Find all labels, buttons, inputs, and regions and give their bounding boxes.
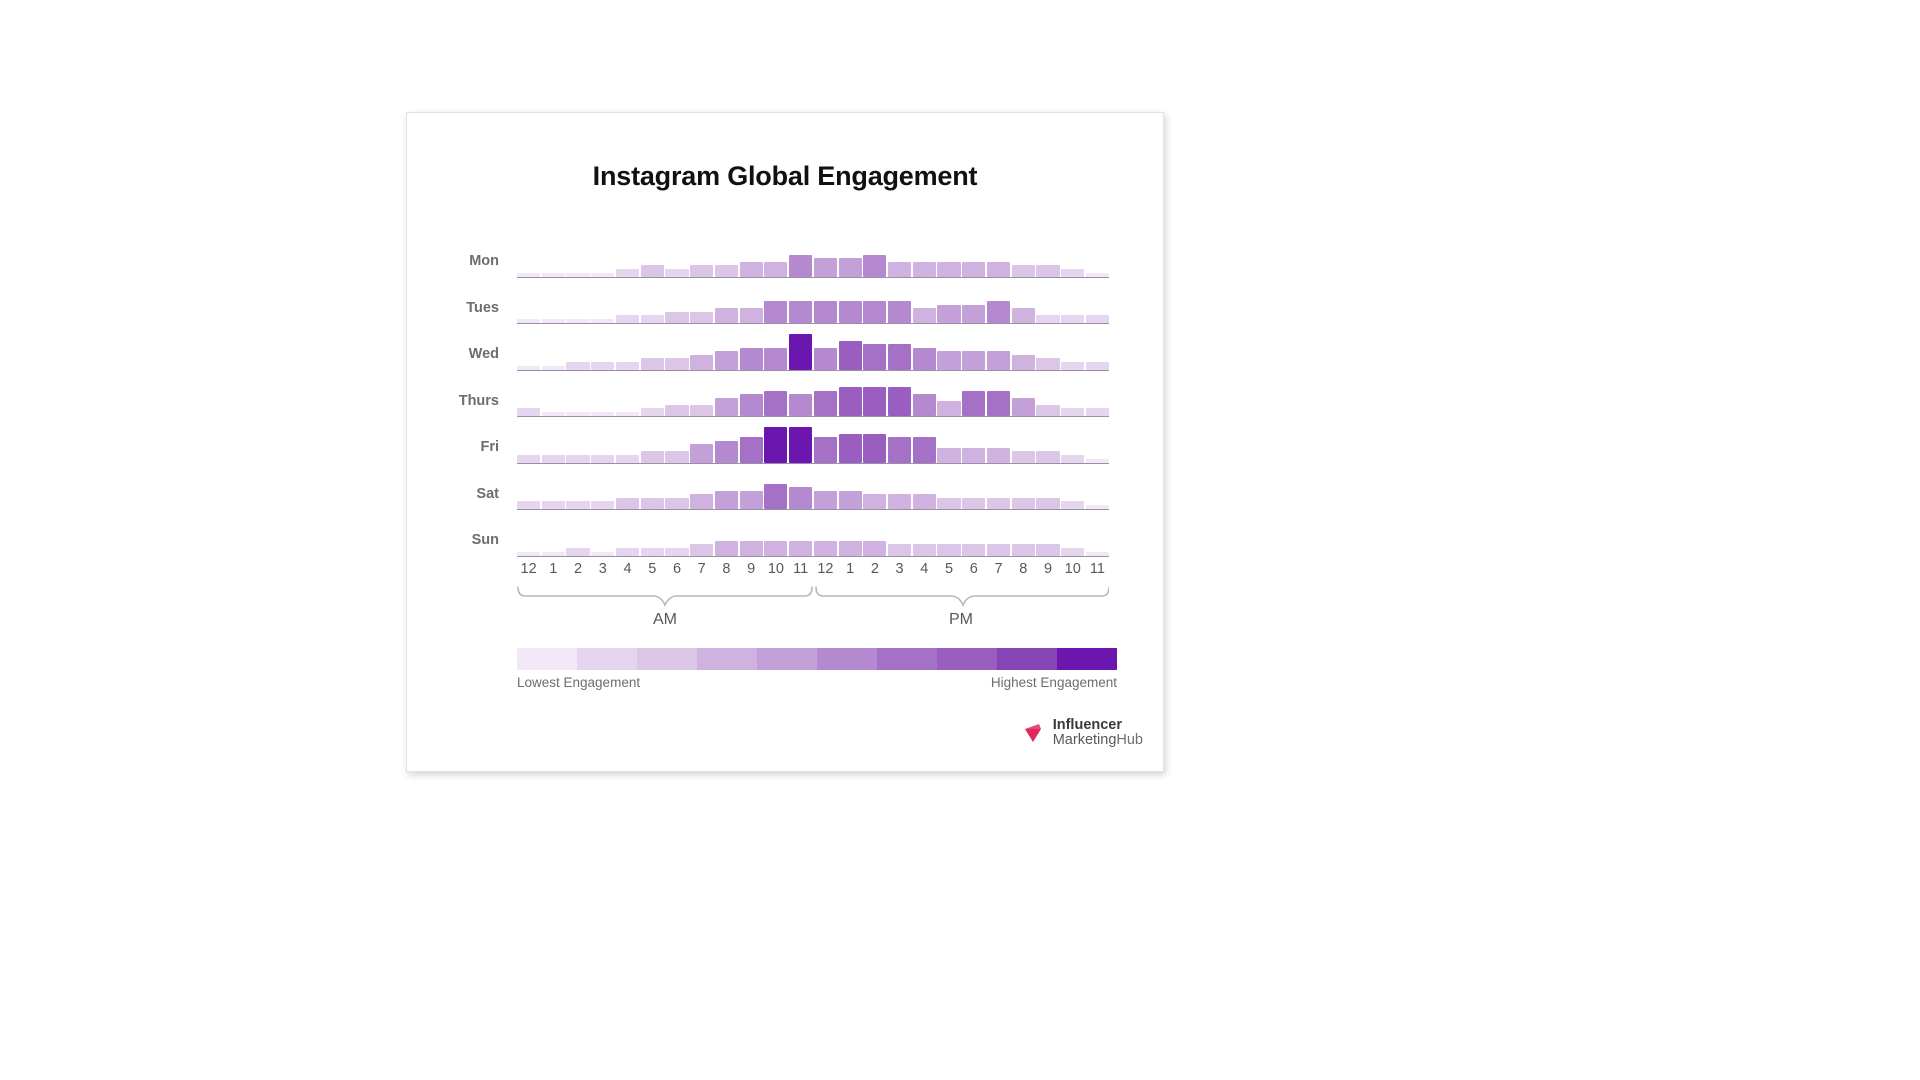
bar[interactable] bbox=[566, 501, 589, 509]
pm-label: PM bbox=[813, 611, 1109, 629]
bar[interactable] bbox=[542, 552, 565, 556]
bar[interactable] bbox=[764, 348, 787, 370]
heatmap-row: Sat bbox=[407, 464, 1165, 511]
bar[interactable] bbox=[1036, 498, 1059, 509]
bar[interactable] bbox=[814, 391, 837, 416]
bar[interactable] bbox=[1012, 308, 1035, 323]
bar[interactable] bbox=[789, 487, 812, 509]
bar[interactable] bbox=[962, 448, 985, 463]
bar[interactable] bbox=[740, 437, 763, 462]
x-tick: 12 bbox=[814, 561, 837, 577]
bar[interactable] bbox=[517, 366, 540, 370]
bar[interactable] bbox=[987, 351, 1010, 369]
bar[interactable] bbox=[987, 544, 1010, 555]
bar[interactable] bbox=[764, 427, 787, 463]
bar[interactable] bbox=[641, 408, 664, 416]
bar[interactable] bbox=[517, 408, 540, 416]
bar[interactable] bbox=[814, 258, 837, 276]
bar[interactable] bbox=[690, 544, 713, 555]
heatmap-row: Sun bbox=[407, 510, 1165, 557]
bar[interactable] bbox=[665, 269, 688, 277]
row-bars bbox=[517, 231, 1109, 278]
bar[interactable] bbox=[913, 437, 936, 462]
bar[interactable] bbox=[987, 498, 1010, 509]
row-bars bbox=[517, 417, 1109, 464]
logo-line-marketinghub: MarketingHub bbox=[1053, 733, 1143, 749]
bar[interactable] bbox=[1012, 265, 1035, 276]
heatmap-row: Wed bbox=[407, 324, 1165, 371]
heatmap-row: Tues bbox=[407, 278, 1165, 325]
bar[interactable] bbox=[566, 273, 589, 277]
bar[interactable] bbox=[616, 362, 639, 370]
bar[interactable] bbox=[1086, 459, 1109, 463]
bar[interactable] bbox=[665, 548, 688, 556]
bar[interactable] bbox=[839, 301, 862, 323]
bar[interactable] bbox=[566, 455, 589, 463]
bar[interactable] bbox=[764, 301, 787, 323]
bar[interactable] bbox=[863, 344, 886, 369]
row-bars bbox=[517, 510, 1109, 557]
x-tick: 11 bbox=[1086, 561, 1109, 577]
bar[interactable] bbox=[937, 262, 960, 277]
bar[interactable] bbox=[715, 398, 738, 416]
logo-line-influencer: Influencer bbox=[1053, 718, 1143, 734]
bar[interactable] bbox=[863, 434, 886, 463]
bar[interactable] bbox=[690, 494, 713, 509]
bar[interactable] bbox=[888, 494, 911, 509]
heatmap-row: Thurs bbox=[407, 371, 1165, 418]
bar[interactable] bbox=[814, 491, 837, 509]
row-label-fri: Fri bbox=[407, 439, 499, 455]
bar[interactable] bbox=[814, 437, 837, 462]
bar[interactable] bbox=[1012, 355, 1035, 370]
bar[interactable] bbox=[1086, 408, 1109, 416]
bar[interactable] bbox=[641, 315, 664, 323]
bar[interactable] bbox=[1036, 451, 1059, 462]
x-tick: 6 bbox=[665, 561, 688, 577]
legend-swatch bbox=[1057, 648, 1117, 670]
bar[interactable] bbox=[987, 301, 1010, 323]
bar[interactable] bbox=[690, 405, 713, 416]
bar[interactable] bbox=[1086, 552, 1109, 556]
bar[interactable] bbox=[839, 434, 862, 463]
bar[interactable] bbox=[1061, 548, 1084, 556]
bar[interactable] bbox=[517, 552, 540, 556]
bar[interactable] bbox=[542, 273, 565, 277]
bar[interactable] bbox=[839, 258, 862, 276]
bar[interactable] bbox=[517, 273, 540, 277]
bar[interactable] bbox=[641, 548, 664, 556]
screenshot-root: Instagram Global Engagement MonTuesWedTh… bbox=[0, 0, 1920, 1080]
bar[interactable] bbox=[542, 319, 565, 323]
x-tick: 4 bbox=[616, 561, 639, 577]
legend-labels: Lowest Engagement Highest Engagement bbox=[517, 675, 1117, 690]
bar[interactable] bbox=[987, 262, 1010, 277]
bar[interactable] bbox=[913, 494, 936, 509]
bar[interactable] bbox=[616, 315, 639, 323]
bar[interactable] bbox=[517, 319, 540, 323]
bar[interactable] bbox=[962, 262, 985, 277]
bar[interactable] bbox=[839, 387, 862, 416]
legend-lowest-label: Lowest Engagement bbox=[517, 675, 640, 690]
bar[interactable] bbox=[665, 312, 688, 323]
x-tick: 9 bbox=[1036, 561, 1059, 577]
bar[interactable] bbox=[616, 412, 639, 416]
bar[interactable] bbox=[888, 544, 911, 555]
bar[interactable] bbox=[542, 412, 565, 416]
row-label-thurs: Thurs bbox=[407, 393, 499, 409]
bar[interactable] bbox=[888, 344, 911, 369]
bar[interactable] bbox=[591, 455, 614, 463]
bar[interactable] bbox=[1086, 362, 1109, 370]
bar[interactable] bbox=[641, 451, 664, 462]
x-tick: 3 bbox=[591, 561, 614, 577]
bar[interactable] bbox=[1061, 455, 1084, 463]
bar[interactable] bbox=[1036, 544, 1059, 555]
bar[interactable] bbox=[937, 351, 960, 369]
bar[interactable] bbox=[690, 355, 713, 370]
x-tick: 3 bbox=[888, 561, 911, 577]
bar[interactable] bbox=[863, 255, 886, 277]
heatmap-plot: MonTuesWedThursFriSatSun bbox=[407, 231, 1165, 557]
bar[interactable] bbox=[1086, 505, 1109, 509]
x-tick: 10 bbox=[764, 561, 787, 577]
bar[interactable] bbox=[690, 312, 713, 323]
x-tick: 8 bbox=[1012, 561, 1035, 577]
bar[interactable] bbox=[863, 494, 886, 509]
heatmap-row: Fri bbox=[407, 417, 1165, 464]
bar[interactable] bbox=[591, 273, 614, 277]
bar[interactable] bbox=[814, 541, 837, 556]
bar[interactable] bbox=[863, 301, 886, 323]
bar[interactable] bbox=[913, 262, 936, 277]
bar[interactable] bbox=[566, 362, 589, 370]
bar[interactable] bbox=[789, 427, 812, 463]
bar[interactable] bbox=[542, 501, 565, 509]
legend-swatch bbox=[577, 648, 637, 670]
x-tick: 5 bbox=[937, 561, 960, 577]
bracket-label-row: AM PM bbox=[517, 611, 1109, 629]
row-label-tues: Tues bbox=[407, 300, 499, 316]
bar[interactable] bbox=[690, 444, 713, 462]
bar[interactable] bbox=[591, 501, 614, 509]
bar[interactable] bbox=[740, 262, 763, 277]
bar[interactable] bbox=[616, 269, 639, 277]
bar[interactable] bbox=[814, 348, 837, 370]
bar[interactable] bbox=[665, 405, 688, 416]
x-tick: 11 bbox=[789, 561, 812, 577]
bar[interactable] bbox=[1061, 501, 1084, 509]
bar[interactable] bbox=[814, 301, 837, 323]
bar[interactable] bbox=[789, 334, 812, 370]
bar[interactable] bbox=[1086, 273, 1109, 277]
x-tick: 12 bbox=[517, 561, 540, 577]
bar[interactable] bbox=[1012, 451, 1035, 462]
row-bars bbox=[517, 464, 1109, 511]
bar[interactable] bbox=[566, 548, 589, 556]
x-axis-tick-labels: 121234567891011121234567891011 bbox=[517, 561, 1109, 577]
bar[interactable] bbox=[937, 544, 960, 555]
legend-swatch bbox=[937, 648, 997, 670]
bar[interactable] bbox=[789, 255, 812, 277]
bar[interactable] bbox=[764, 391, 787, 416]
heatmap-row: Mon bbox=[407, 231, 1165, 278]
bar[interactable] bbox=[962, 305, 985, 323]
bar[interactable] bbox=[937, 401, 960, 416]
row-label-sat: Sat bbox=[407, 486, 499, 502]
bar[interactable] bbox=[665, 451, 688, 462]
x-tick: 9 bbox=[740, 561, 763, 577]
bar[interactable] bbox=[1036, 315, 1059, 323]
bar[interactable] bbox=[789, 301, 812, 323]
page-title: Instagram Global Engagement bbox=[407, 161, 1163, 192]
bar[interactable] bbox=[1012, 498, 1035, 509]
row-bars bbox=[517, 371, 1109, 418]
bar[interactable] bbox=[789, 541, 812, 556]
bar[interactable] bbox=[764, 262, 787, 277]
bar[interactable] bbox=[566, 412, 589, 416]
bar[interactable] bbox=[715, 351, 738, 369]
bar[interactable] bbox=[863, 541, 886, 556]
bar[interactable] bbox=[517, 455, 540, 463]
x-tick: 2 bbox=[566, 561, 589, 577]
bar[interactable] bbox=[987, 391, 1010, 416]
bar[interactable] bbox=[789, 394, 812, 416]
bar[interactable] bbox=[740, 541, 763, 556]
legend-swatch bbox=[997, 648, 1057, 670]
legend-swatch bbox=[517, 648, 577, 670]
bar[interactable] bbox=[665, 358, 688, 369]
bar[interactable] bbox=[1012, 544, 1035, 555]
bar[interactable] bbox=[1061, 315, 1084, 323]
bar[interactable] bbox=[987, 448, 1010, 463]
bar[interactable] bbox=[913, 308, 936, 323]
brand-logo: Influencer MarketingHub bbox=[1023, 718, 1143, 749]
bar[interactable] bbox=[937, 305, 960, 323]
legend-swatch bbox=[757, 648, 817, 670]
legend-swatch bbox=[637, 648, 697, 670]
bar[interactable] bbox=[740, 348, 763, 370]
legend-swatch bbox=[697, 648, 757, 670]
bar[interactable] bbox=[1061, 269, 1084, 277]
bar[interactable] bbox=[839, 341, 862, 370]
bar[interactable] bbox=[542, 366, 565, 370]
x-tick: 5 bbox=[641, 561, 664, 577]
bar[interactable] bbox=[616, 498, 639, 509]
bar[interactable] bbox=[641, 498, 664, 509]
bar[interactable] bbox=[962, 391, 985, 416]
bar[interactable] bbox=[591, 412, 614, 416]
x-tick: 8 bbox=[715, 561, 738, 577]
bar[interactable] bbox=[740, 394, 763, 416]
chart-card: Instagram Global Engagement MonTuesWedTh… bbox=[406, 112, 1164, 772]
bar[interactable] bbox=[1036, 405, 1059, 416]
bar[interactable] bbox=[937, 498, 960, 509]
bar[interactable] bbox=[962, 544, 985, 555]
row-label-mon: Mon bbox=[407, 253, 499, 269]
x-tick: 7 bbox=[690, 561, 713, 577]
bar[interactable] bbox=[888, 437, 911, 462]
bar[interactable] bbox=[591, 319, 614, 323]
bar[interactable] bbox=[1036, 265, 1059, 276]
bar[interactable] bbox=[715, 265, 738, 276]
legend-swatch bbox=[877, 648, 937, 670]
bar[interactable] bbox=[1061, 362, 1084, 370]
bar[interactable] bbox=[591, 362, 614, 370]
x-tick: 1 bbox=[839, 561, 862, 577]
bar[interactable] bbox=[764, 541, 787, 556]
bar[interactable] bbox=[641, 358, 664, 369]
bar[interactable] bbox=[616, 455, 639, 463]
legend-highest-label: Highest Engagement bbox=[991, 675, 1117, 690]
bar[interactable] bbox=[1012, 398, 1035, 416]
bar[interactable] bbox=[715, 491, 738, 509]
bar[interactable] bbox=[517, 501, 540, 509]
bar[interactable] bbox=[937, 448, 960, 463]
row-bars bbox=[517, 324, 1109, 371]
am-label: AM bbox=[517, 611, 813, 629]
bar[interactable] bbox=[1036, 358, 1059, 369]
bar[interactable] bbox=[740, 491, 763, 509]
x-tick: 2 bbox=[863, 561, 886, 577]
logo-text: Influencer MarketingHub bbox=[1053, 718, 1143, 749]
x-tick: 4 bbox=[913, 561, 936, 577]
bar[interactable] bbox=[715, 541, 738, 556]
bar[interactable] bbox=[740, 308, 763, 323]
bar[interactable] bbox=[888, 301, 911, 323]
color-scale-legend bbox=[517, 648, 1117, 670]
bar[interactable] bbox=[863, 387, 886, 416]
bar[interactable] bbox=[542, 455, 565, 463]
bar[interactable] bbox=[913, 394, 936, 416]
bar[interactable] bbox=[1061, 408, 1084, 416]
bar[interactable] bbox=[913, 544, 936, 555]
bar[interactable] bbox=[888, 262, 911, 277]
logo-arrow-icon bbox=[1023, 720, 1049, 746]
bar[interactable] bbox=[839, 491, 862, 509]
bar[interactable] bbox=[616, 548, 639, 556]
x-tick: 1 bbox=[542, 561, 565, 577]
bar[interactable] bbox=[1086, 315, 1109, 323]
bar[interactable] bbox=[715, 308, 738, 323]
bar[interactable] bbox=[888, 387, 911, 416]
x-tick: 10 bbox=[1061, 561, 1084, 577]
x-tick: 6 bbox=[962, 561, 985, 577]
bar[interactable] bbox=[591, 552, 614, 556]
row-label-sun: Sun bbox=[407, 532, 499, 548]
bar[interactable] bbox=[839, 541, 862, 556]
bar[interactable] bbox=[690, 265, 713, 276]
bar[interactable] bbox=[641, 265, 664, 276]
legend-swatch bbox=[817, 648, 877, 670]
bar[interactable] bbox=[962, 498, 985, 509]
bar[interactable] bbox=[913, 348, 936, 370]
row-label-wed: Wed bbox=[407, 346, 499, 362]
bar[interactable] bbox=[665, 498, 688, 509]
bar[interactable] bbox=[764, 484, 787, 509]
bar[interactable] bbox=[962, 351, 985, 369]
bar[interactable] bbox=[566, 319, 589, 323]
x-tick: 7 bbox=[987, 561, 1010, 577]
bar[interactable] bbox=[715, 441, 738, 463]
row-bars bbox=[517, 278, 1109, 325]
